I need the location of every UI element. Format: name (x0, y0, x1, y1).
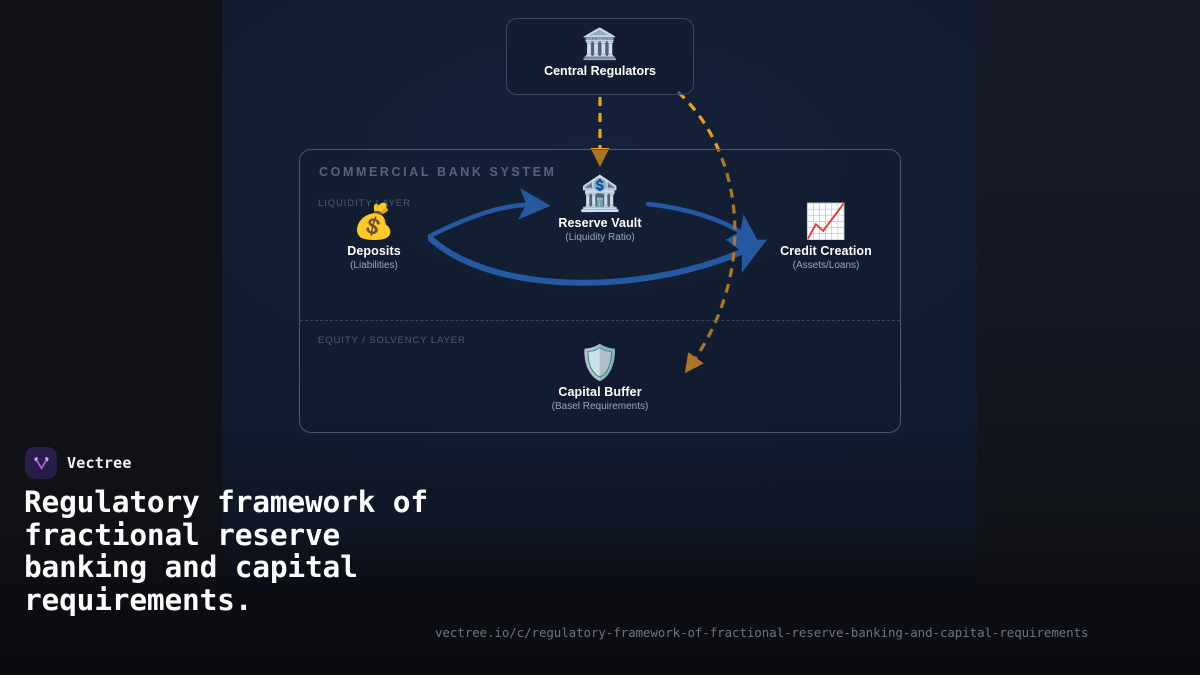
brand-name: Vectree (67, 454, 132, 472)
vectree-v-logo-icon (32, 454, 51, 473)
layer-label-equity: EQUITY / SOLVENCY LAYER (318, 335, 466, 346)
node-credit-creation[interactable]: 📈 Credit Creation (Assets/Loans) (751, 203, 901, 271)
node-title: Capital Buffer (525, 385, 675, 399)
node-reserve-vault[interactable]: 🏦 Reserve Vault (Liquidity Ratio) (525, 175, 675, 243)
node-central-regulators[interactable]: 🏛️ Central Regulators (506, 18, 694, 95)
node-deposits[interactable]: 💰 Deposits (Liabilities) (299, 203, 449, 271)
node-subtitle: (Liabilities) (299, 260, 449, 271)
chart-increasing-icon: 📈 (751, 203, 901, 241)
screenshot-stage: 🏛️ Central Regulators COMMERCIAL BANK SY… (0, 0, 1200, 675)
node-title: Central Regulators (507, 64, 693, 78)
node-capital-buffer[interactable]: 🛡️ Capital Buffer (Basel Requirements) (525, 344, 675, 412)
classical-building-icon: 🏛️ (507, 19, 693, 61)
node-title: Reserve Vault (525, 216, 675, 230)
brand: Vectree (25, 447, 132, 479)
node-subtitle: (Liquidity Ratio) (525, 232, 675, 243)
node-subtitle: (Assets/Loans) (751, 260, 901, 271)
vectree-logo (25, 447, 57, 479)
node-title: Credit Creation (751, 244, 901, 258)
shield-icon: 🛡️ (525, 344, 675, 382)
page-url: vectree.io/c/regulatory-framework-of-fra… (435, 625, 1088, 640)
node-title: Deposits (299, 244, 449, 258)
layer-divider (300, 320, 900, 321)
node-subtitle: (Basel Requirements) (525, 401, 675, 412)
page-headline: Regulatory framework of fractional reser… (24, 486, 454, 616)
money-bag-icon: 💰 (299, 203, 449, 241)
bank-icon: 🏦 (525, 175, 675, 213)
system-panel-title: COMMERCIAL BANK SYSTEM (319, 165, 557, 179)
